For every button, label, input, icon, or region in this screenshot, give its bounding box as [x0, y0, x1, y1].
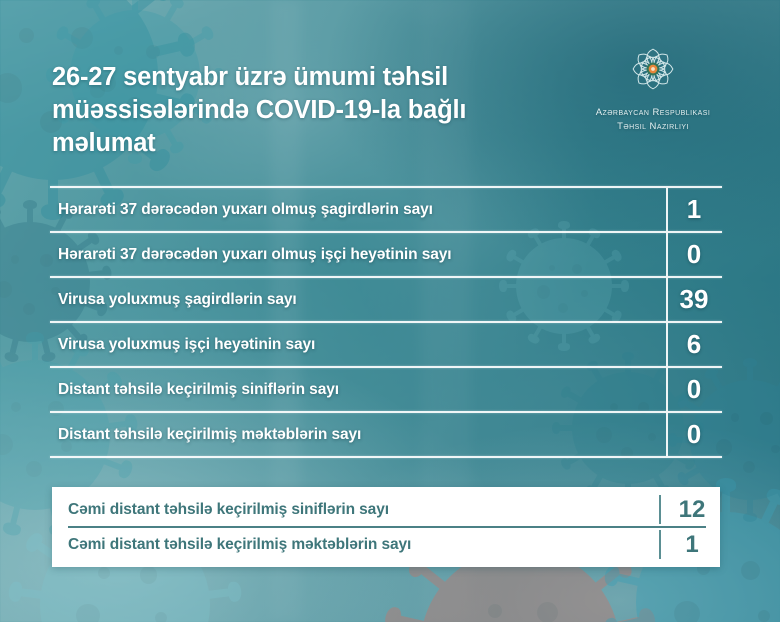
table-row-label: Hərarəti 37 dərəcədən yuxarı olmuş işçi …	[50, 246, 666, 264]
table-row: Distant təhsilə keçirilmiş məktəblərin s…	[50, 413, 722, 456]
table-row-label: Distant təhsilə keçirilmiş məktəblərin s…	[50, 426, 666, 444]
table-column-divider	[666, 368, 668, 411]
summary-row-label: Cəmi distant təhsilə keçirilmiş siniflər…	[52, 501, 664, 519]
summary-column-divider	[659, 530, 661, 559]
summary-row-value: 1	[664, 531, 720, 559]
table-column-divider	[666, 233, 668, 276]
table-rule	[50, 456, 722, 458]
summary-column-divider	[659, 495, 661, 524]
table-row-label: Virusa yoluxmuş şagirdlərin sayı	[50, 291, 666, 309]
table-row-value: 6	[666, 329, 722, 360]
table-column-divider	[666, 323, 668, 366]
page-title: 26-27 sentyabr üzrə ümumi təhsil müəssis…	[52, 61, 552, 160]
summary-row: Cəmi distant təhsilə keçirilmiş məktəblə…	[52, 528, 720, 561]
logo-caption-line-1: Azərbaycan Respublikası	[572, 106, 734, 120]
table-row-value: 1	[666, 194, 722, 225]
table-row: Virusa yoluxmuş işçi heyətinin sayı6	[50, 323, 722, 366]
statistics-table: Hərarəti 37 dərəcədən yuxarı olmuş şagir…	[50, 186, 722, 458]
table-row-value: 39	[666, 284, 722, 315]
table-column-divider	[666, 278, 668, 321]
summary-row-label: Cəmi distant təhsilə keçirilmiş məktəblə…	[52, 536, 664, 554]
summary-row-value: 12	[664, 496, 720, 524]
table-column-divider	[666, 413, 668, 456]
table-row: Distant təhsilə keçirilmiş siniflərin sa…	[50, 368, 722, 411]
table-row-value: 0	[666, 374, 722, 405]
table-row: Virusa yoluxmuş şagirdlərin sayı39	[50, 278, 722, 321]
table-row-value: 0	[666, 419, 722, 450]
table-row-label: Distant təhsilə keçirilmiş siniflərin sa…	[50, 381, 666, 399]
ministry-logo: Azərbaycan Respublikası Təhsil Nazirliyi	[572, 38, 734, 134]
azerbaijan-education-ministry-emblem-icon	[622, 38, 684, 100]
logo-caption-line-2: Təhsil Nazirliyi	[572, 120, 734, 134]
table-row-label: Hərarəti 37 dərəcədən yuxarı olmuş şagir…	[50, 201, 666, 219]
table-row: Hərarəti 37 dərəcədən yuxarı olmuş işçi …	[50, 233, 722, 276]
summary-card: Cəmi distant təhsilə keçirilmiş siniflər…	[52, 487, 720, 567]
table-row: Hərarəti 37 dərəcədən yuxarı olmuş şagir…	[50, 188, 722, 231]
table-row-label: Virusa yoluxmuş işçi heyətinin sayı	[50, 336, 666, 354]
summary-row: Cəmi distant təhsilə keçirilmiş siniflər…	[52, 493, 720, 526]
poster-root: 26-27 sentyabr üzrə ümumi təhsil müəssis…	[0, 0, 780, 622]
table-row-value: 0	[666, 239, 722, 270]
table-column-divider	[666, 188, 668, 231]
